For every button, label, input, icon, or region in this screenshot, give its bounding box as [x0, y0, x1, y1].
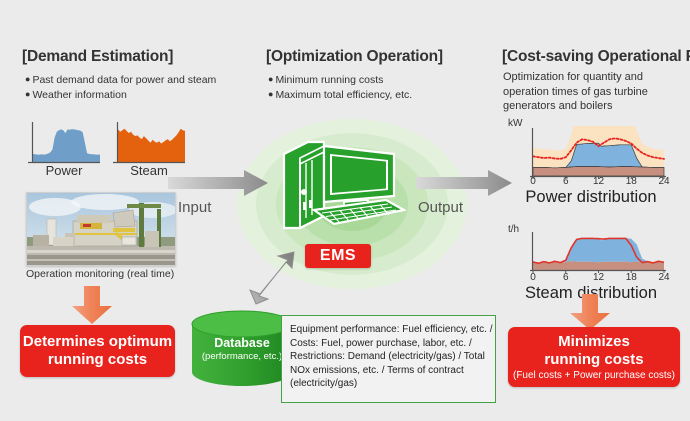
power-demand-thumbnail: Power: [28, 122, 100, 180]
left-column-heading: [Demand Estimation]: [22, 48, 173, 66]
x-tick-label: 6: [560, 176, 572, 187]
left-result-line-2: running costs: [48, 351, 147, 369]
bullet-dot-icon: ●: [25, 74, 30, 84]
x-tick-label: 18: [625, 176, 637, 187]
bullet-dot-icon: ●: [268, 74, 273, 84]
right-column-description: Optimization for quantity and operation …: [503, 70, 648, 114]
output-label: Output: [418, 199, 463, 216]
right-desc-line-3: generators and boilers: [503, 99, 648, 114]
x-tick-label: 12: [593, 176, 605, 187]
center-column-bullets: ●Minimum running costs ●Maximum total ef…: [268, 72, 412, 102]
left-result-line-1: Determines optimum: [23, 333, 172, 351]
operation-monitoring-caption: Operation monitoring (real time): [26, 268, 174, 280]
ems-label: EMS: [305, 244, 371, 268]
constraint-line-2: Costs: Fuel, power purchase, labor, etc.…: [290, 337, 487, 351]
x-tick-label: 12: [593, 272, 605, 283]
left-column-bullets: ●Past demand data for power and steam ●W…: [25, 72, 216, 102]
x-tick-label: 6: [560, 272, 572, 283]
constraints-box: Equipment performance: Fuel efficiency, …: [281, 315, 496, 403]
output-arrow-icon: [416, 170, 512, 201]
left-bullet-1: ●Past demand data for power and steam: [25, 72, 216, 87]
operation-monitoring-photo: [26, 192, 176, 266]
right-column-heading: [Cost-saving Operational Plan]: [502, 48, 690, 66]
right-result-line-3: (Fuel costs + Power purchase costs): [513, 370, 675, 382]
power-thumbnail-label: Power: [28, 163, 100, 178]
left-bullet-2: ●Weather information: [25, 87, 216, 102]
left-down-arrow-icon: [70, 286, 114, 329]
right-desc-line-1: Optimization for quantity and: [503, 70, 648, 85]
diagram-canvas: [Demand Estimation] ●Past demand data fo…: [0, 0, 690, 421]
input-arrow-icon: [168, 170, 268, 201]
power-distribution-chart: kW 06121824 Power distribution: [506, 118, 676, 196]
database-cylinder: Database (performance, etc.): [190, 310, 294, 393]
center-bullet-1: ●Minimum running costs: [268, 72, 412, 87]
right-result-box: Minimizes running costs (Fuel costs + Po…: [508, 327, 680, 387]
left-result-box: Determines optimum running costs: [20, 325, 175, 377]
constraint-line-3: Restrictions: Demand (electricity/gas) /…: [290, 350, 487, 364]
database-ems-arrow-icon: [248, 250, 304, 317]
x-tick-label: 0: [527, 272, 539, 283]
right-result-line-2: running costs: [544, 351, 643, 369]
constraint-line-4: NOx emissions, etc. / Terms of contract: [290, 364, 487, 378]
center-column-heading: [Optimization Operation]: [266, 48, 443, 66]
x-tick-label: 18: [625, 272, 637, 283]
center-bullet-2: ●Maximum total efficiency, etc.: [268, 87, 412, 102]
ems-computer-icon: [282, 140, 406, 237]
input-label: Input: [178, 199, 211, 216]
power-chart-title: Power distribution: [506, 188, 676, 207]
x-tick-label: 0: [527, 176, 539, 187]
steam-distribution-chart: t/h 06121824 Steam distribution: [506, 224, 676, 302]
right-result-line-1: Minimizes: [558, 333, 630, 351]
power-demand-sparkline: [28, 122, 100, 164]
plant-photo-illustration: [27, 193, 175, 265]
steam-demand-sparkline: [113, 122, 185, 164]
x-tick-label: 24: [658, 176, 670, 187]
bullet-dot-icon: ●: [25, 89, 30, 99]
bullet-dot-icon: ●: [268, 89, 273, 99]
right-desc-line-2: operation times of gas turbine: [503, 85, 648, 100]
constraint-line-5: (electricity/gas): [290, 377, 487, 391]
constraint-line-1: Equipment performance: Fuel efficiency, …: [290, 323, 487, 337]
x-tick-label: 24: [658, 272, 670, 283]
